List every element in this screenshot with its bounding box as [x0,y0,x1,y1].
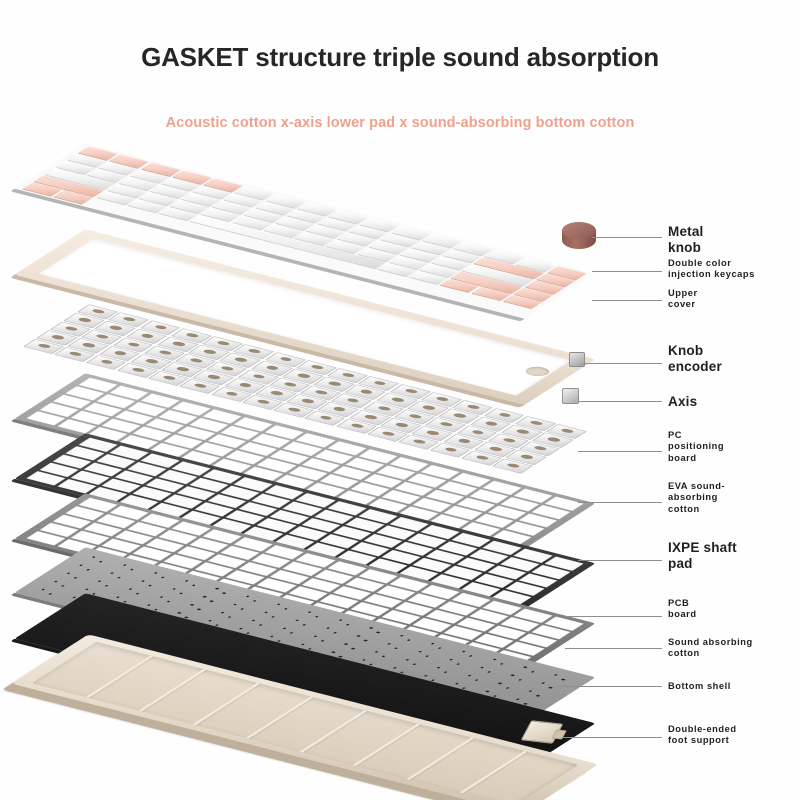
exploded-diagram-stage: GASKET structure triple sound absorption… [0,0,800,800]
shell-rib [299,710,367,752]
leader-line-bottom-shell [558,686,662,687]
keyboard-exploded-assembly [20,140,620,780]
callout-label-bottom-shell: Bottom shell [668,681,731,692]
leader-line-eva-sound-cotton [578,502,662,503]
page-title: GASKET structure triple sound absorption [0,42,800,73]
knob-top [562,222,596,239]
leader-line-double-color-keycaps [592,271,662,272]
axis-switch-part [562,388,579,404]
shell-rib [85,655,153,697]
knob-encoder-part [569,352,585,367]
shell-rib [139,669,207,711]
callout-label-ixpe-shaft-pad: IXPE shaft pad [668,540,737,573]
callout-label-pcb-board: PCB board [668,598,697,621]
callout-label-upper-cover: Upper cover [668,288,698,311]
leader-line-axis [578,401,662,402]
shell-rib [246,696,314,738]
leader-line-pcb-board [565,616,662,617]
leader-line-double-ended-foot [562,737,662,738]
shell-rib [192,683,260,725]
callout-label-sound-absorbing-cotton: Sound absorbing cotton [668,637,753,660]
callout-label-double-color-keycaps: Double color injection keycaps [668,258,755,281]
callout-label-double-ended-foot: Double-ended foot support [668,724,737,747]
leader-line-upper-cover [592,300,662,301]
leader-line-metal-knob [592,237,662,238]
leader-line-pc-positioning-board [578,451,662,452]
page-subtitle: Acoustic cotton x-axis lower pad x sound… [0,115,800,131]
leader-line-knob-encoder [585,363,662,364]
shell-rib [406,737,474,779]
callout-label-knob-encoder: Knob encoder [668,343,722,376]
callout-label-axis: Axis [668,394,697,410]
callout-label-metal-knob: Metal knob [668,224,704,257]
callout-label-eva-sound-cotton: EVA sound- absorbing cotton [668,481,725,515]
metal-knob [562,222,596,256]
leader-line-ixpe-shaft-pad [578,560,662,561]
shell-rib [460,751,528,793]
leader-line-sound-absorbing-cotton [565,648,662,649]
callout-label-pc-positioning-board: PC positioning board [668,430,724,464]
shell-rib [353,724,421,766]
